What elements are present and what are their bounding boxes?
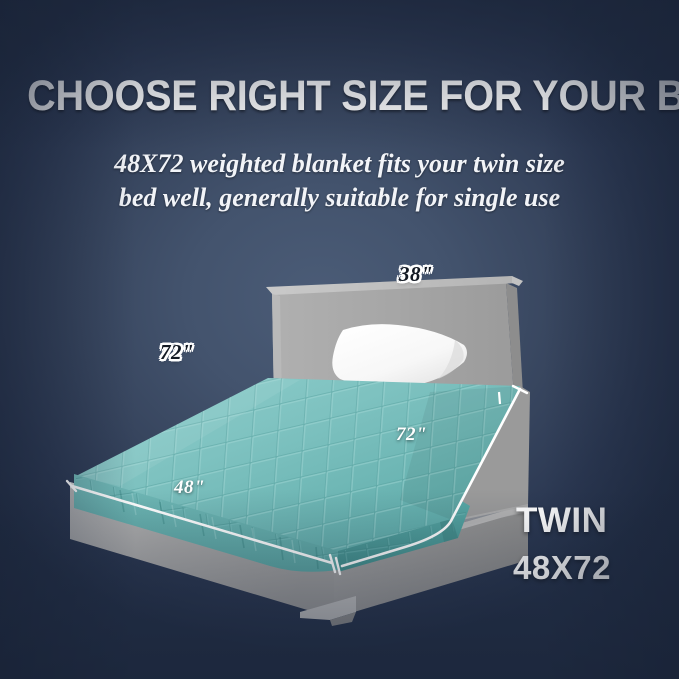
product-size-infographic: CHOOSE RIGHT SIZE FOR YOUR BED: 48X72 we… [0,0,679,679]
blanket-width-label: 48" [174,477,205,499]
subtitle-line-1: 48X72 weighted blanket fits your twin si… [0,147,679,181]
headboard-marker [499,392,500,404]
page-title: CHOOSE RIGHT SIZE FOR YOUR BED: [27,72,652,121]
bed-length-callout: 72" [160,340,194,365]
subtitle-line-2: bed well, generally suitable for single … [0,181,679,215]
page-subtitle: 48X72 weighted blanket fits your twin si… [0,147,679,215]
blanket-length-label: 72" [396,424,427,446]
size-name: TWIN [516,501,607,541]
size-dimensions: 48X72 [513,549,611,587]
bed-width-callout: 38" [399,262,433,287]
